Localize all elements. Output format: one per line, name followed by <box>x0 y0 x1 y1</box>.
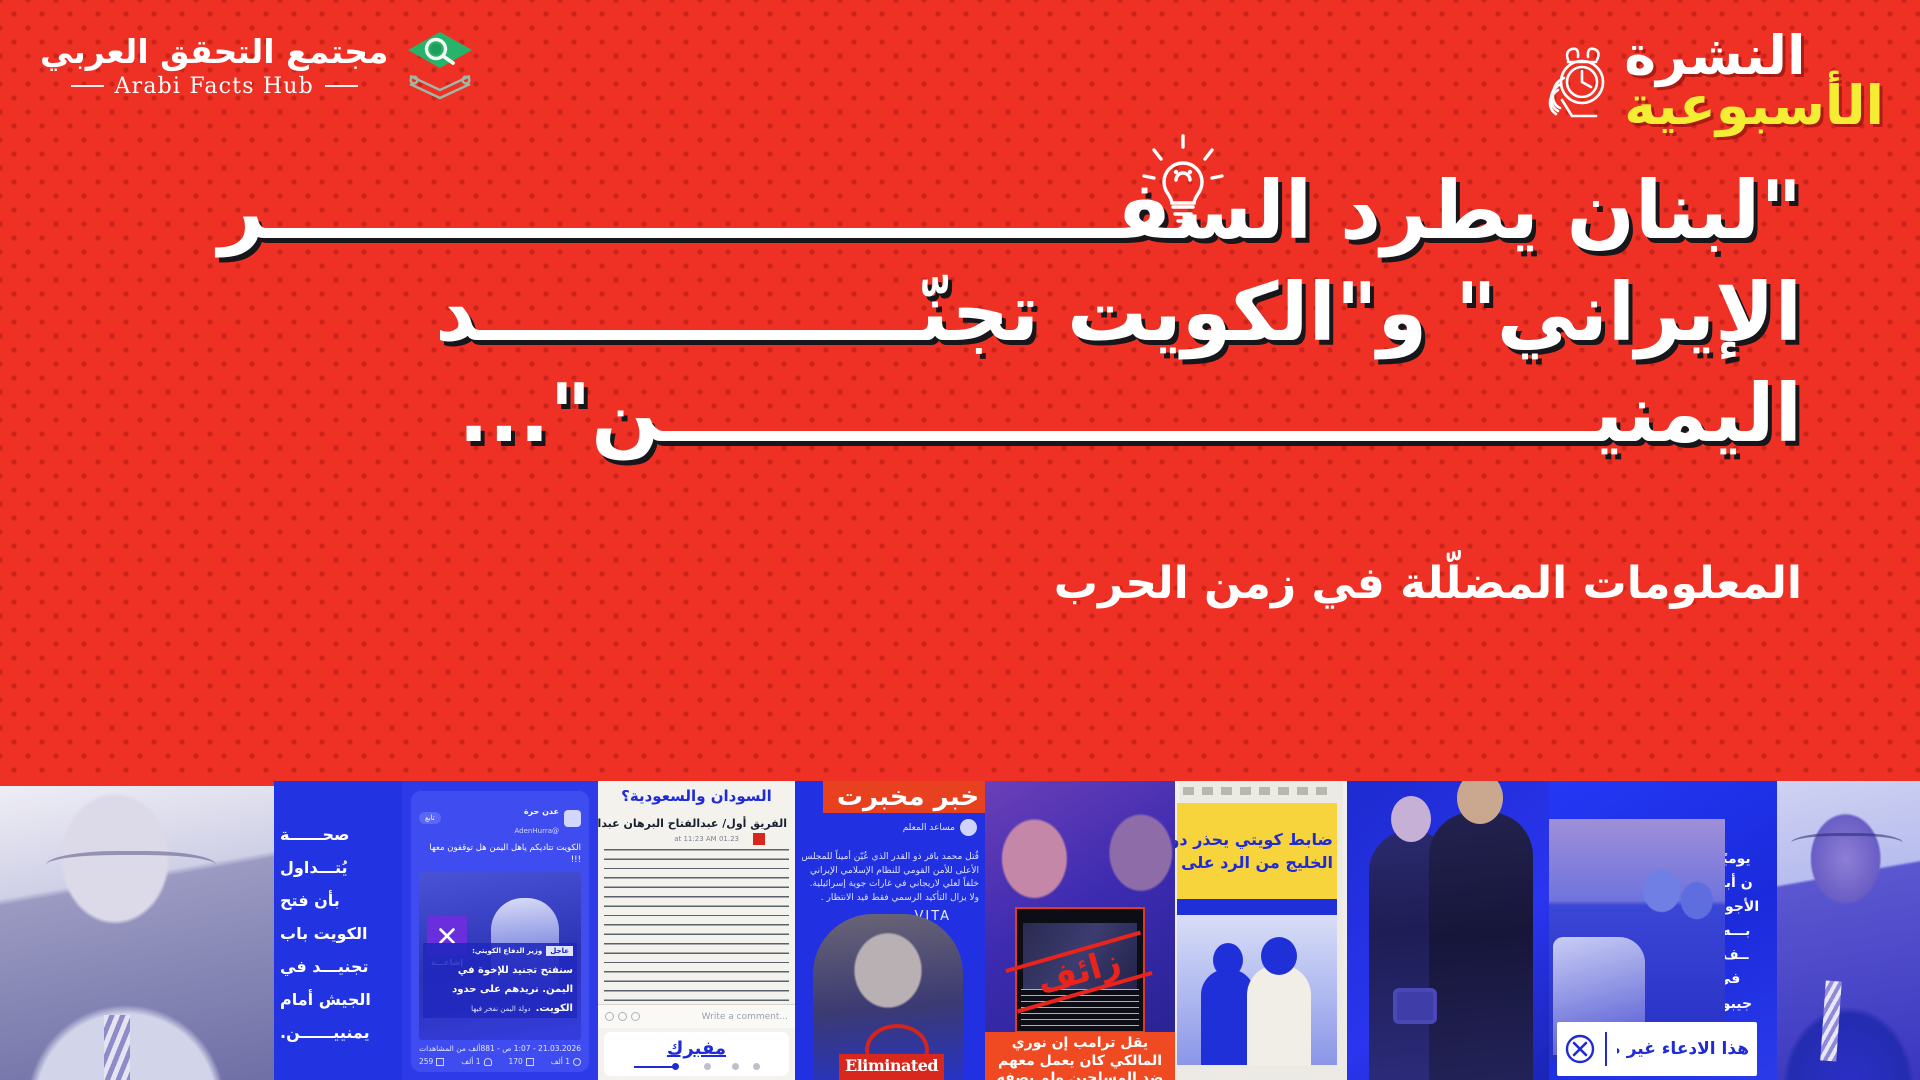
tweet-action-like[interactable]: 1 ألف <box>461 1057 491 1066</box>
rumor-text-line: صحــــــة <box>280 825 350 844</box>
headline-line-3: اليمنيــــــــــــــــــــــــــــــــــ… <box>622 363 1802 465</box>
panel-egyptian-official-closeup[interactable] <box>0 781 274 1080</box>
panel-houthi-leader-elimination-post[interactable]: خبر مخبرت مساعد المعلم قُتل محمد باقر ذو… <box>795 781 985 1080</box>
tweet-action-comment[interactable]: 1 ألف <box>551 1057 581 1066</box>
account-name: مساعد المعلم <box>903 823 955 833</box>
portrait-figure <box>1777 781 1920 1080</box>
comment-action-icons[interactable] <box>605 1012 640 1021</box>
account-name: عدن حرة <box>524 807 559 816</box>
panel-breathalyzer-police-claim[interactable]: يوميًا ن أبو الأجور بـــه، ــف، في جيبوا… <box>1549 781 1777 1080</box>
guest-figure <box>1247 965 1311 1065</box>
tweet-action-bookmark[interactable]: 259 <box>419 1057 444 1066</box>
document-timestamp: 01.23 at 11:23 AM <box>674 835 739 843</box>
brand-logo[interactable]: مجتمع التحقق العربي Arabi Facts Hub <box>40 28 476 104</box>
tweet-header: عدن حرة @AdenHurra تابع <box>419 799 581 837</box>
headline-line-2: الإيراني" و"الكويت تجنّــــــــــــــــد <box>622 262 1802 364</box>
sticker-icon[interactable] <box>618 1012 627 1021</box>
panel-trump-maliki-fake-stamp[interactable]: زائف يقل ترامب إن نوري المالكي كان يعمل … <box>985 781 1175 1080</box>
retweet-icon <box>526 1058 534 1066</box>
soldier-figure <box>1429 812 1533 1080</box>
camera-icon[interactable] <box>605 1012 614 1021</box>
bookmark-icon <box>436 1058 444 1066</box>
avatar <box>960 819 977 836</box>
slider-dot[interactable] <box>753 1063 760 1070</box>
chyron-line-1: ضابط كويتي يحذر دول <box>1181 830 1333 849</box>
panel-sudan-saudi-statement-document[interactable]: السودان والسعودية؟ الفريق أول/ عبدالفتاح… <box>598 781 795 1080</box>
hero-banner: مجتمع التحقق العربي Arabi Facts Hub النش… <box>0 0 1920 781</box>
news-band-text: خبر مخبرت <box>837 782 979 812</box>
verdict-slider[interactable] <box>634 1063 760 1070</box>
claim-verdict-text: هذا الادعاء غير صحيح <box>1617 1039 1749 1059</box>
verdict-label: مفبرك <box>667 1038 726 1059</box>
comment-input-placeholder[interactable]: Write a comment... <box>702 1012 788 1022</box>
follow-button[interactable]: تابع <box>419 812 441 824</box>
alarm-clock-icon <box>1538 38 1614 122</box>
chyron-accent-bar <box>1177 899 1337 915</box>
tv-studio-frame <box>1177 915 1337 1065</box>
side-text-column: يوميًا ن أبو الأجور بـــه، ــف، في جيبوا… <box>1717 851 1771 1036</box>
rumor-text-line: يُتـــداول <box>280 858 348 877</box>
avatar <box>564 810 581 827</box>
bookmark-count: 259 <box>419 1057 433 1066</box>
claim-verdict-bar: هذا الادعاء غير صحيح <box>1557 1022 1757 1076</box>
eyeglasses-shape <box>1791 833 1903 853</box>
tweet-media[interactable]: إشاعـــة عاجل وزير الدفاع الكويتي: سنفتح… <box>419 872 581 1040</box>
tweet-card[interactable]: عدن حرة @AdenHurra تابع الكويت تتاديكم ي… <box>411 791 589 1072</box>
slogan-text: دولة اليمن نفخر فيها <box>471 1005 530 1013</box>
badge-line-2: الأسبوعية <box>1624 79 1884 133</box>
comment-count: 1 ألف <box>551 1057 570 1066</box>
rumor-text-block: صحــــــة يُتـــداول بأن فتح الكويت باب … <box>280 825 392 1042</box>
panel-kuwaiti-officer-tv-screengrab[interactable]: ضابط كويتي يحذر دول الخليج من الرد على إ… <box>1175 781 1347 1080</box>
brand-rule-right <box>71 85 104 87</box>
eyeglasses-shape <box>46 851 216 879</box>
account-handle: @AdenHurra <box>515 827 559 835</box>
necktie-shape <box>104 1015 130 1080</box>
thumbnail-strip: يوميًا ن أبو الأجور بـــه، ــف، في جيبوا… <box>0 781 1920 1080</box>
stacked-magnifier-logo-icon <box>404 28 476 104</box>
retweet-count: 170 <box>508 1057 522 1066</box>
rumor-text-line: الجيش أمام <box>280 990 371 1009</box>
document-subtitle: الفريق أول/ عبدالفتاح البرهان عبدالرحمن'… <box>606 817 787 830</box>
post-body-text: قُتل محمد باقر ذو القدر الذي عُيّن أمينا… <box>801 851 979 905</box>
document-title: السودان والسعودية؟ <box>606 787 787 805</box>
panel-caption: يقل ترامب إن نوري المالكي كان يعمل معهم … <box>985 1032 1175 1080</box>
emoji-icon[interactable] <box>631 1012 640 1021</box>
panel-egyptian-official-interview[interactable] <box>1777 781 1920 1080</box>
slider-dot[interactable] <box>704 1063 711 1070</box>
tv-chyron: ضابط كويتي يحذر دول الخليج من الرد على إ… <box>1177 803 1337 899</box>
urgent-badge: عاجل <box>546 946 573 956</box>
chyron-line-2: الخليج من الرد على إيران <box>1181 853 1333 872</box>
like-count: 1 ألف <box>461 1057 480 1066</box>
rumor-text-line: الكويت باب <box>280 924 367 943</box>
portrait-figure <box>0 781 274 1080</box>
eliminated-stamp: Eliminated <box>839 1054 944 1080</box>
rumor-text-line: بأن فتح <box>280 891 340 910</box>
rumor-text-line: تجنيـــد في <box>280 957 368 976</box>
panel-couple-soldier-photo[interactable] <box>1347 781 1549 1080</box>
tweet-actions[interactable]: 1 ألف 170 1 ألف 259 <box>419 1057 581 1066</box>
document-body-lines <box>604 849 789 1019</box>
slider-dot-active[interactable] <box>672 1063 679 1070</box>
tweet-text: الكويت تتاديكم ياهل اليمن هل توقفون معها… <box>419 843 581 867</box>
rumor-text-line: يمنييــــــن. <box>280 1023 370 1042</box>
panel-kuwait-yemen-recruitment-rumor-text[interactable]: صحــــــة يُتـــداول بأن فتح الكويت باب … <box>274 781 402 1080</box>
divider <box>1605 1032 1607 1066</box>
news-band: خبر مخبرت <box>823 781 985 813</box>
brand-name-english: Arabi Facts Hub <box>115 74 314 99</box>
tv-lower-third: عاجل وزير الدفاع الكويتي: سنفتح تجنيد لل… <box>423 943 577 1018</box>
tweet-stats: 21.03.2026 - 1:07 ص - 881ألف من المشاهدا… <box>419 1044 581 1053</box>
headline-line-1: "لبنان يطرد السفــــــــــــــــــــــــ… <box>622 160 1802 262</box>
comment-icon <box>573 1058 581 1066</box>
minister-label: وزير الدفاع الكويتي: <box>472 947 542 955</box>
slider-bar <box>634 1066 676 1069</box>
panel-adenhurra-kuwait-recruitment-tweet[interactable]: عدن حرة @AdenHurra تابع الكويت تتاديكم ي… <box>402 781 598 1080</box>
tweet-author: عدن حرة @AdenHurra <box>515 799 581 837</box>
heart-icon <box>484 1058 492 1066</box>
comment-row[interactable]: Write a comment... <box>598 1004 795 1028</box>
page-title: "لبنان يطرد السفــــــــــــــــــــــــ… <box>622 160 1802 465</box>
verdict-widget: مفبرك <box>604 1032 789 1076</box>
alert-badge-icon <box>753 833 765 845</box>
slider-dot[interactable] <box>732 1063 739 1070</box>
post-account: مساعد المعلم <box>903 819 977 836</box>
film-perforation <box>1183 787 1331 795</box>
tweet-action-retweet[interactable]: 170 <box>508 1057 533 1066</box>
brand-name-arabic: مجتمع التحقق العربي <box>40 33 388 71</box>
handbag-shape <box>1393 988 1437 1024</box>
top-accent-line <box>0 781 274 786</box>
x-circle-icon <box>1565 1034 1595 1064</box>
page-subtitle: المعلومات المضلّلة في زمن الحرب <box>622 555 1802 612</box>
weekly-newsletter-badge: النشرة الأسبوعية <box>1538 30 1884 133</box>
brand-rule-left <box>325 85 358 87</box>
